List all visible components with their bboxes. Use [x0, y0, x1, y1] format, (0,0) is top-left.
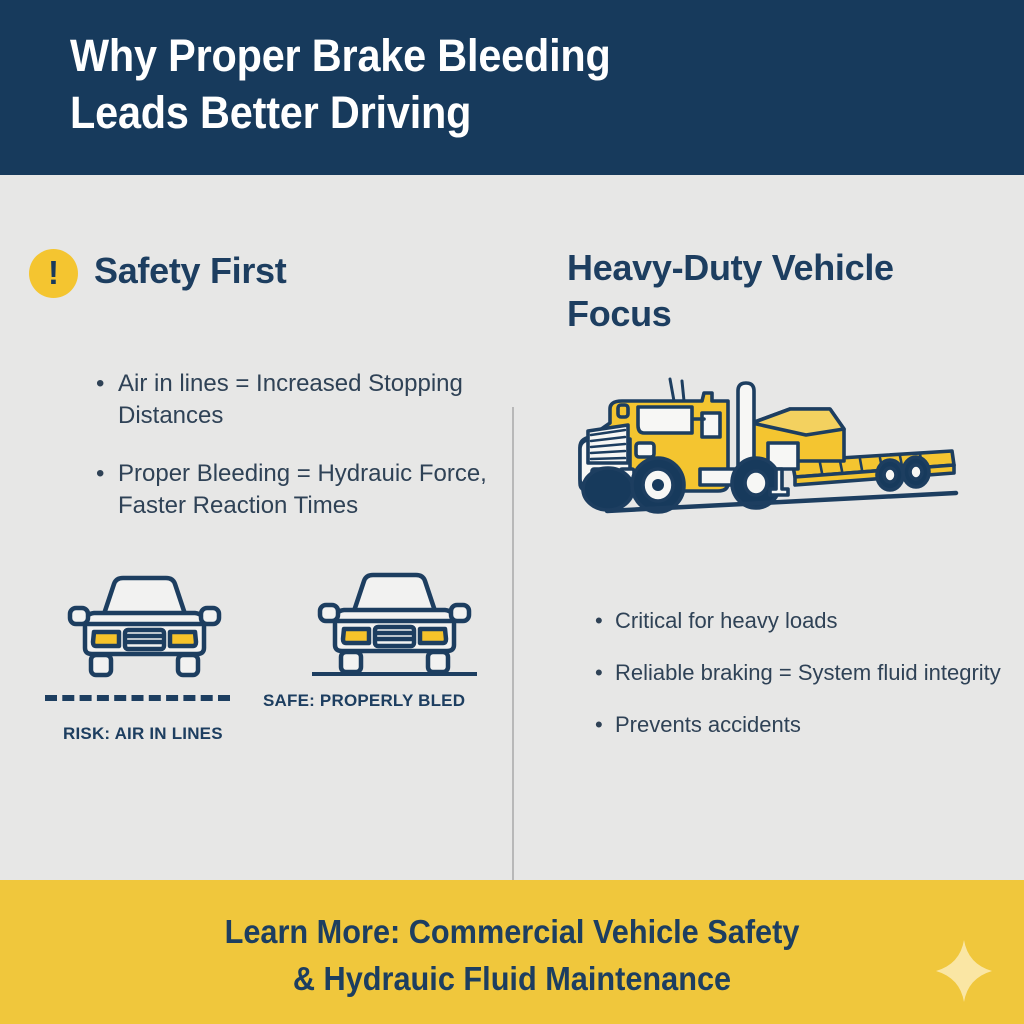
car-front-icon-safe: [312, 567, 477, 687]
list-item: Air in lines = Increased Stopping Distan…: [96, 368, 526, 432]
car-front-icon-risk: [62, 570, 227, 690]
sparkle-star-icon: [936, 940, 992, 1007]
risk-label: RISK: AIR IN LINES: [63, 724, 223, 744]
flatbed-tow-truck-icon: [552, 365, 972, 530]
section-heading-safety: Safety First: [94, 250, 286, 292]
safety-bullet-list: Air in lines = Increased Stopping Distan…: [56, 368, 526, 522]
right-column: Heavy-Duty Vehicle Focus: [512, 175, 1024, 880]
infographic-page: Why Proper Brake Bleeding Leads Better D…: [0, 0, 1024, 1024]
list-item: Critical for heavy loads: [595, 606, 1024, 636]
footer-cta-text: Learn More: Commercial Vehicle Safety & …: [36, 908, 988, 1002]
list-item: Prevents accidents: [595, 710, 1024, 740]
dashed-road-line: [45, 695, 230, 701]
header-banner: Why Proper Brake Bleeding Leads Better D…: [0, 0, 1024, 175]
content-area: ! Safety First Air in lines = Increased …: [0, 175, 1024, 880]
exclamation-mark: !: [29, 249, 78, 298]
exclamation-icon: !: [29, 249, 78, 298]
footer-banner: Learn More: Commercial Vehicle Safety & …: [0, 880, 1024, 1024]
page-title: Why Proper Brake Bleeding Leads Better D…: [70, 27, 861, 141]
safe-label: SAFE: PROPERLY BLED: [263, 691, 465, 711]
list-item: Proper Bleeding = Hydrauic Force, Faster…: [96, 458, 526, 522]
heavy-duty-bullet-list: Critical for heavy loads Reliable brakin…: [555, 606, 1024, 740]
list-item: Reliable braking = System fluid integrit…: [595, 658, 1024, 688]
left-column: ! Safety First Air in lines = Increased …: [0, 175, 512, 880]
section-heading-heavy-duty: Heavy-Duty Vehicle Focus: [567, 245, 987, 337]
